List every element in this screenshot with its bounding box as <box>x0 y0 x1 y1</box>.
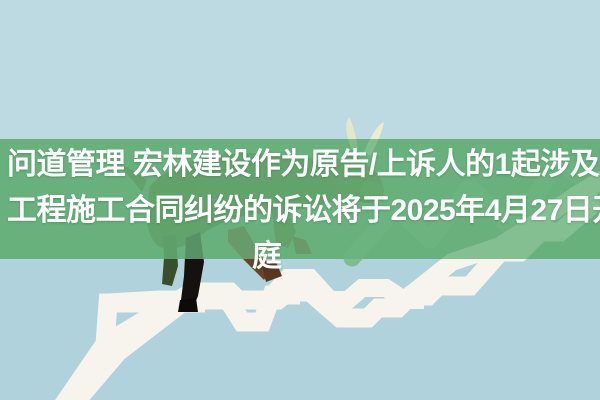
caption-line-2: 工程施工合同纠纷的诉讼将于2025年4月27日开庭 <box>7 196 600 226</box>
caption-line-1: 问道管理 宏林建设作为原告/上诉人的1起涉及建设 <box>7 150 600 180</box>
caption-line-3: 庭 <box>252 242 282 272</box>
caption-block: 问道管理 宏林建设作为原告/上诉人的1起涉及建设 工程施工合同纠纷的诉讼将于20… <box>0 0 600 400</box>
news-thumbnail-image: 问道管理 宏林建设作为原告/上诉人的1起涉及建设 工程施工合同纠纷的诉讼将于20… <box>0 0 600 400</box>
